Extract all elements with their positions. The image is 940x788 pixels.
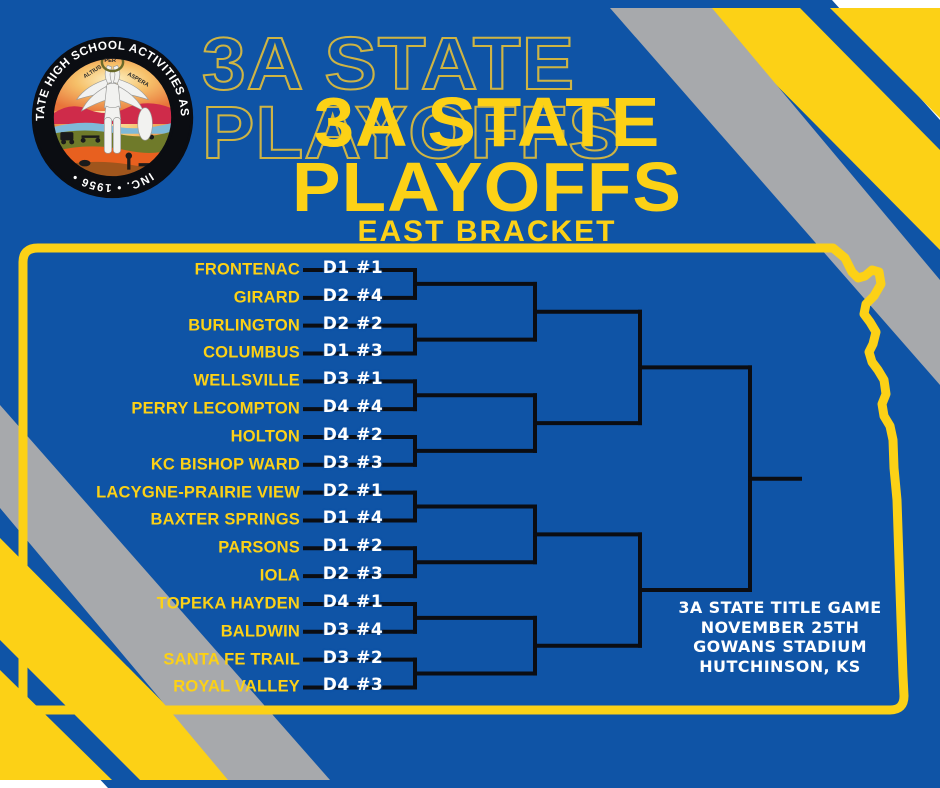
title-game-line-3: GOWANS STADIUM [660,637,900,657]
team-name: COLUMBUS [0,344,300,363]
team-seed: D3 #4 [313,620,393,640]
team-seed: D2 #2 [313,314,393,334]
team-seed: D2 #3 [313,564,393,584]
bracket-team-list: FRONTENACD1 #1GIRARDD2 #4BURLINGTOND2 #2… [0,0,300,788]
title-line-2: PLAYOFFS [243,155,732,220]
team-name: BALDWIN [0,622,300,641]
subtitle: EAST BRACKET [252,215,722,249]
team-seed: D4 #4 [313,397,393,417]
team-name: BURLINGTON [0,316,300,335]
team-seed: D1 #1 [313,258,393,278]
page-title: 3A STATE PLAYOFFS [243,90,732,220]
team-name: LACYGNE-PRAIRIE VIEW [0,483,300,502]
team-name: GIRARD [0,288,300,307]
team-name: IOLA [0,567,300,586]
team-name: PERRY LECOMPTON [0,400,300,419]
team-name: FRONTENAC [0,261,300,280]
title-game-line-4: HUTCHINSON, KS [660,657,900,677]
title-game-info: 3A STATE TITLE GAME NOVEMBER 25TH GOWANS… [660,598,900,676]
team-seed: D4 #3 [313,675,393,695]
team-seed: D1 #2 [313,536,393,556]
team-name: PARSONS [0,539,300,558]
team-seed: D3 #2 [313,648,393,668]
team-name: BAXTER SPRINGS [0,511,300,530]
title-game-line-2: NOVEMBER 25TH [660,618,900,638]
team-seed: D2 #4 [313,286,393,306]
team-name: WELLSVILLE [0,372,300,391]
team-name: HOLTON [0,427,300,446]
playoff-bracket-poster: KANSAS STATE HIGH SCHOOL ACTIVITIES ASSO… [0,0,940,788]
title-game-line-1: 3A STATE TITLE GAME [660,598,900,618]
team-seed: D3 #3 [313,453,393,473]
team-seed: D4 #2 [313,425,393,445]
team-seed: D1 #3 [313,341,393,361]
team-seed: D1 #4 [313,508,393,528]
title-line-1: 3A STATE [243,90,732,155]
team-seed: D2 #1 [313,481,393,501]
team-seed: D3 #1 [313,369,393,389]
team-name: KC BISHOP WARD [0,455,300,474]
team-name: TOPEKA HAYDEN [0,594,300,613]
team-name: SANTA FE TRAIL [0,650,300,669]
team-seed: D4 #1 [313,592,393,612]
team-name: ROYAL VALLEY [0,678,300,697]
